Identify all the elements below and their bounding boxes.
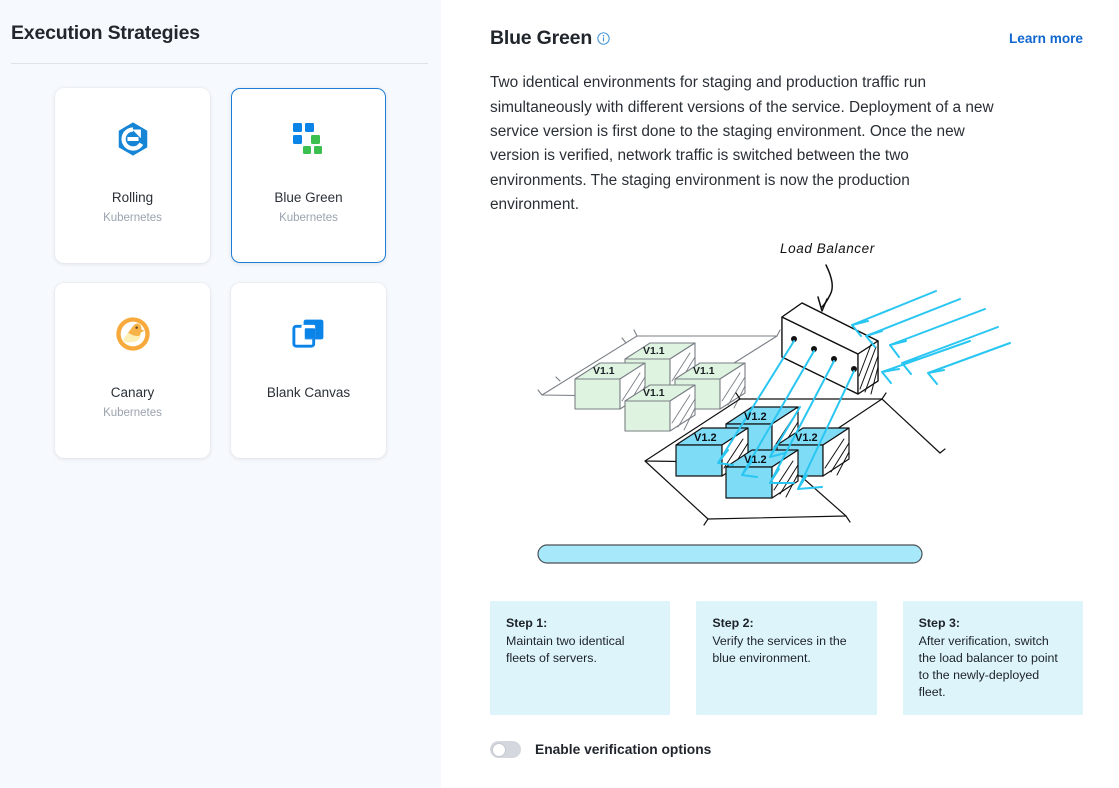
load-balancer-arrow <box>822 265 832 307</box>
svg-text:V1.1: V1.1 <box>643 387 665 399</box>
enable-verification-label: Enable verification options <box>535 742 711 757</box>
card-subtitle: Kubernetes <box>103 212 162 224</box>
rolling-hexagon-icon <box>114 120 152 158</box>
card-icon-wrap <box>232 284 385 384</box>
card-title: Blue Green <box>274 189 342 207</box>
blank-canvas-icon <box>291 316 327 352</box>
card-title: Blank Canvas <box>267 384 350 402</box>
blue-green-diagram: Load Balancer V1.1 V1.1 V1.1 V1.1 V1.2 V… <box>441 217 1119 597</box>
detail-header: Blue Green Learn more <box>441 0 1119 49</box>
svg-text:V1.1: V1.1 <box>693 365 715 377</box>
card-title: Canary <box>111 384 155 402</box>
strategy-card-canary[interactable]: Canary Kubernetes <box>55 283 210 458</box>
svg-text:V1.2: V1.2 <box>744 411 767 423</box>
strategy-card-blue-green[interactable]: Blue Green Kubernetes <box>231 88 386 263</box>
step-label: Step 2: <box>712 615 862 632</box>
detail-title: Blue Green <box>490 28 592 49</box>
sidebar: Execution Strategies Rolling Kubernetes <box>0 0 441 788</box>
canary-bird-icon <box>113 314 153 354</box>
info-circle-icon[interactable] <box>597 32 610 45</box>
load-balancer-box <box>779 299 882 397</box>
card-title: Rolling <box>112 189 153 207</box>
svg-text:V1.1: V1.1 <box>593 365 615 377</box>
enable-verification-toggle[interactable] <box>490 741 521 758</box>
detail-description: Two identical environments for staging a… <box>441 49 1041 217</box>
card-subtitle: Kubernetes <box>103 407 162 419</box>
blue-green-diagram-svg: Load Balancer V1.1 V1.1 V1.1 V1.1 V1.2 V… <box>530 231 1030 599</box>
svg-text:V1.2: V1.2 <box>694 432 717 444</box>
step-card: Step 1: Maintain two identical fleets of… <box>490 601 670 715</box>
steps-row: Step 1: Maintain two identical fleets of… <box>441 601 1119 715</box>
svg-text:V1.2: V1.2 <box>744 454 767 466</box>
step-card: Step 2: Verify the services in the blue … <box>696 601 876 715</box>
svg-text:V1.2: V1.2 <box>795 432 818 444</box>
step-card: Step 3: After verification, switch the l… <box>903 601 1083 715</box>
svg-text:V1.1: V1.1 <box>643 345 665 357</box>
load-balancer-label: Load Balancer <box>780 241 875 256</box>
detail-panel: Blue Green Learn more Two identical envi… <box>441 0 1119 788</box>
step-text: Maintain two identical fleets of servers… <box>506 633 656 667</box>
strategy-card-grid: Rolling Kubernetes Blue Green Kubern <box>0 64 441 458</box>
verification-options-row: Enable verification options <box>441 741 1119 758</box>
progress-pill <box>538 545 922 563</box>
card-icon-wrap <box>232 89 385 189</box>
toggle-knob <box>492 743 506 757</box>
card-subtitle: Kubernetes <box>279 212 338 224</box>
execution-strategies-page: Execution Strategies Rolling Kubernetes <box>0 0 1119 788</box>
step-label: Step 3: <box>919 615 1069 632</box>
page-title: Execution Strategies <box>0 0 441 45</box>
blue-green-squares-icon <box>292 122 326 156</box>
card-icon-wrap <box>56 89 209 189</box>
step-text: Verify the services in the blue environm… <box>712 633 862 667</box>
step-text: After verification, switch the load bala… <box>919 633 1069 701</box>
strategy-card-rolling[interactable]: Rolling Kubernetes <box>55 88 210 263</box>
strategy-card-blank-canvas[interactable]: Blank Canvas <box>231 283 386 458</box>
card-icon-wrap <box>56 284 209 384</box>
detail-title-row: Blue Green <box>490 28 610 49</box>
step-label: Step 1: <box>506 615 656 632</box>
learn-more-link[interactable]: Learn more <box>1009 31 1083 46</box>
